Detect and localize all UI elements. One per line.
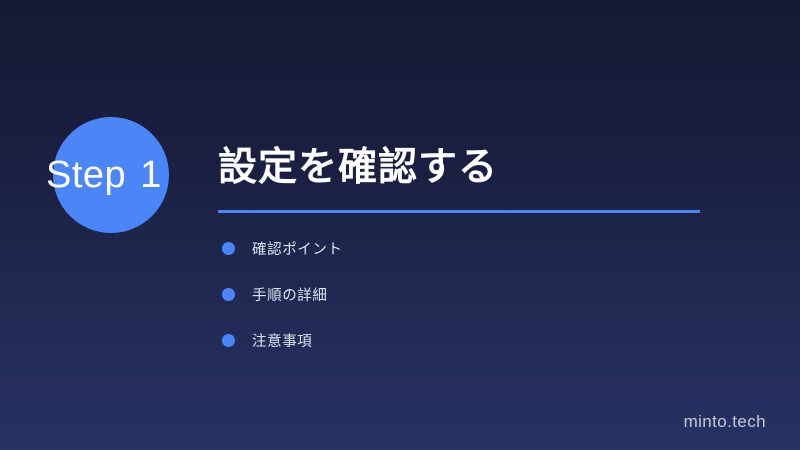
title-divider (218, 210, 700, 213)
list-item: 手順の詳細 (222, 281, 343, 307)
list-item: 確認ポイント (222, 235, 343, 261)
bullet-list: 確認ポイント 手順の詳細 注意事項 (222, 235, 343, 373)
step-word: Step (46, 154, 126, 197)
bullet-dot-icon (222, 242, 235, 255)
slide-content: 設定を確認する 確認ポイント 手順の詳細 注意事項 (218, 0, 758, 450)
bullet-dot-icon (222, 288, 235, 301)
list-item: 注意事項 (222, 327, 343, 353)
bullet-label: 手順の詳細 (252, 284, 328, 305)
step-number: 1 (140, 154, 162, 197)
presentation-slide: Step 1 設定を確認する 確認ポイント 手順の詳細 注意事項 minto.t… (0, 0, 800, 450)
bullet-label: 注意事項 (252, 330, 312, 351)
bullet-label: 確認ポイント (252, 238, 343, 259)
step-label: Step 1 (46, 152, 162, 198)
footer-brand: minto.tech (684, 412, 766, 432)
bullet-dot-icon (222, 334, 235, 347)
slide-title: 設定を確認する (218, 147, 498, 190)
